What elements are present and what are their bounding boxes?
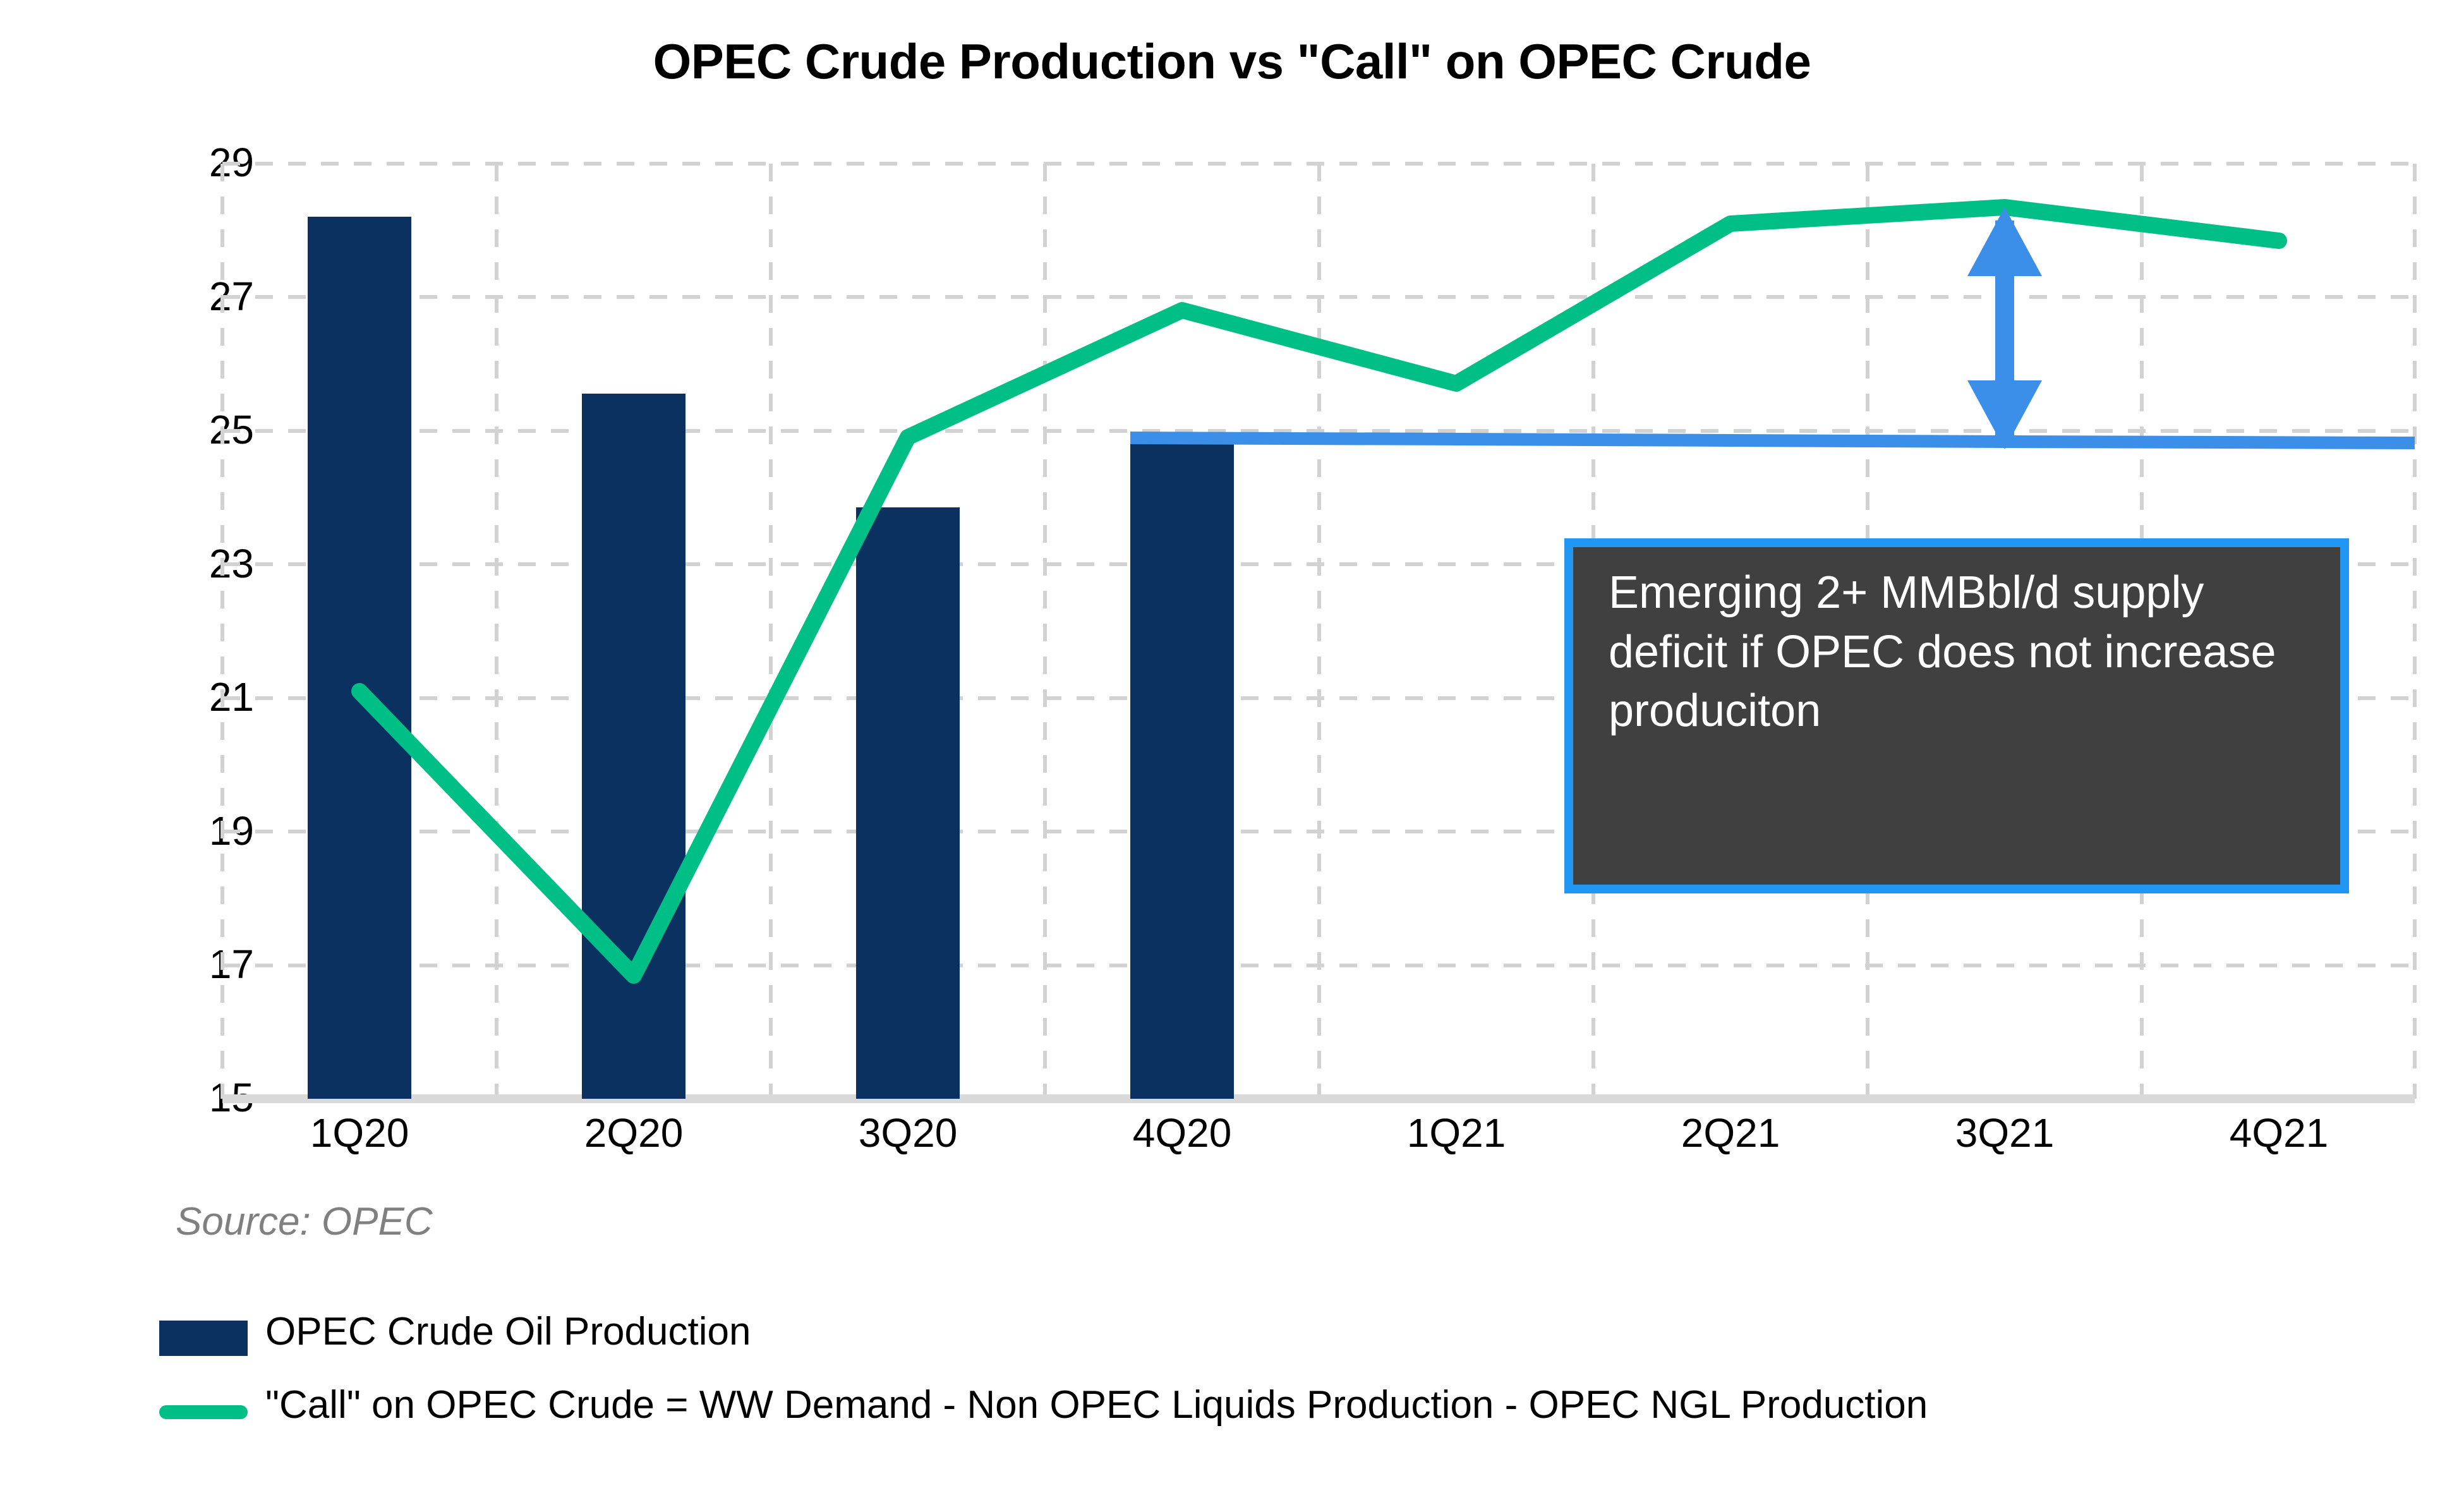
bar (1130, 437, 1234, 1099)
bar-swatch-icon (159, 1321, 248, 1356)
x-tick-label: 1Q20 (246, 1110, 473, 1156)
legend-item-opec-crude-oil-production[interactable]: OPEC Crude Oil Production (159, 1303, 2434, 1376)
x-tick-label: 1Q21 (1343, 1110, 1570, 1156)
legend-item-label: "Call" on OPEC Crude = WW Demand - Non O… (265, 1382, 1928, 1427)
legend-item-call-on-opec-crude[interactable]: "Call" on OPEC Crude = WW Demand - Non O… (159, 1376, 2434, 1449)
x-tick-label: 2Q20 (520, 1110, 747, 1156)
x-tick-label: 3Q21 (1891, 1110, 2118, 1156)
bar (308, 217, 411, 1099)
callout-text: Emerging 2+ MMBbl/d supply deficit if OP… (1609, 564, 2316, 741)
supply-deficit-callout: Emerging 2+ MMBbl/d supply deficit if OP… (1564, 538, 2349, 893)
legend-item-label: OPEC Crude Oil Production (265, 1309, 751, 1354)
bar (582, 394, 685, 1099)
bar (856, 507, 960, 1099)
x-tick-label: 3Q20 (794, 1110, 1022, 1156)
x-tick-label: 4Q21 (2165, 1110, 2393, 1156)
x-tick-label: 2Q21 (1617, 1110, 1844, 1156)
deficit-arrow (1967, 207, 2042, 449)
legend: OPEC Crude Oil Production "Call" on OPEC… (159, 1303, 2434, 1449)
source-note: Source: OPEC (176, 1199, 433, 1244)
chart-canvas: OPEC Crude Production vs "Call" on OPEC … (0, 0, 2464, 1488)
line-swatch-icon (159, 1405, 248, 1419)
page-title: OPEC Crude Production vs "Call" on OPEC … (0, 33, 2464, 90)
flat-production-line (1130, 438, 2415, 443)
x-tick-label: 4Q20 (1068, 1110, 1296, 1156)
